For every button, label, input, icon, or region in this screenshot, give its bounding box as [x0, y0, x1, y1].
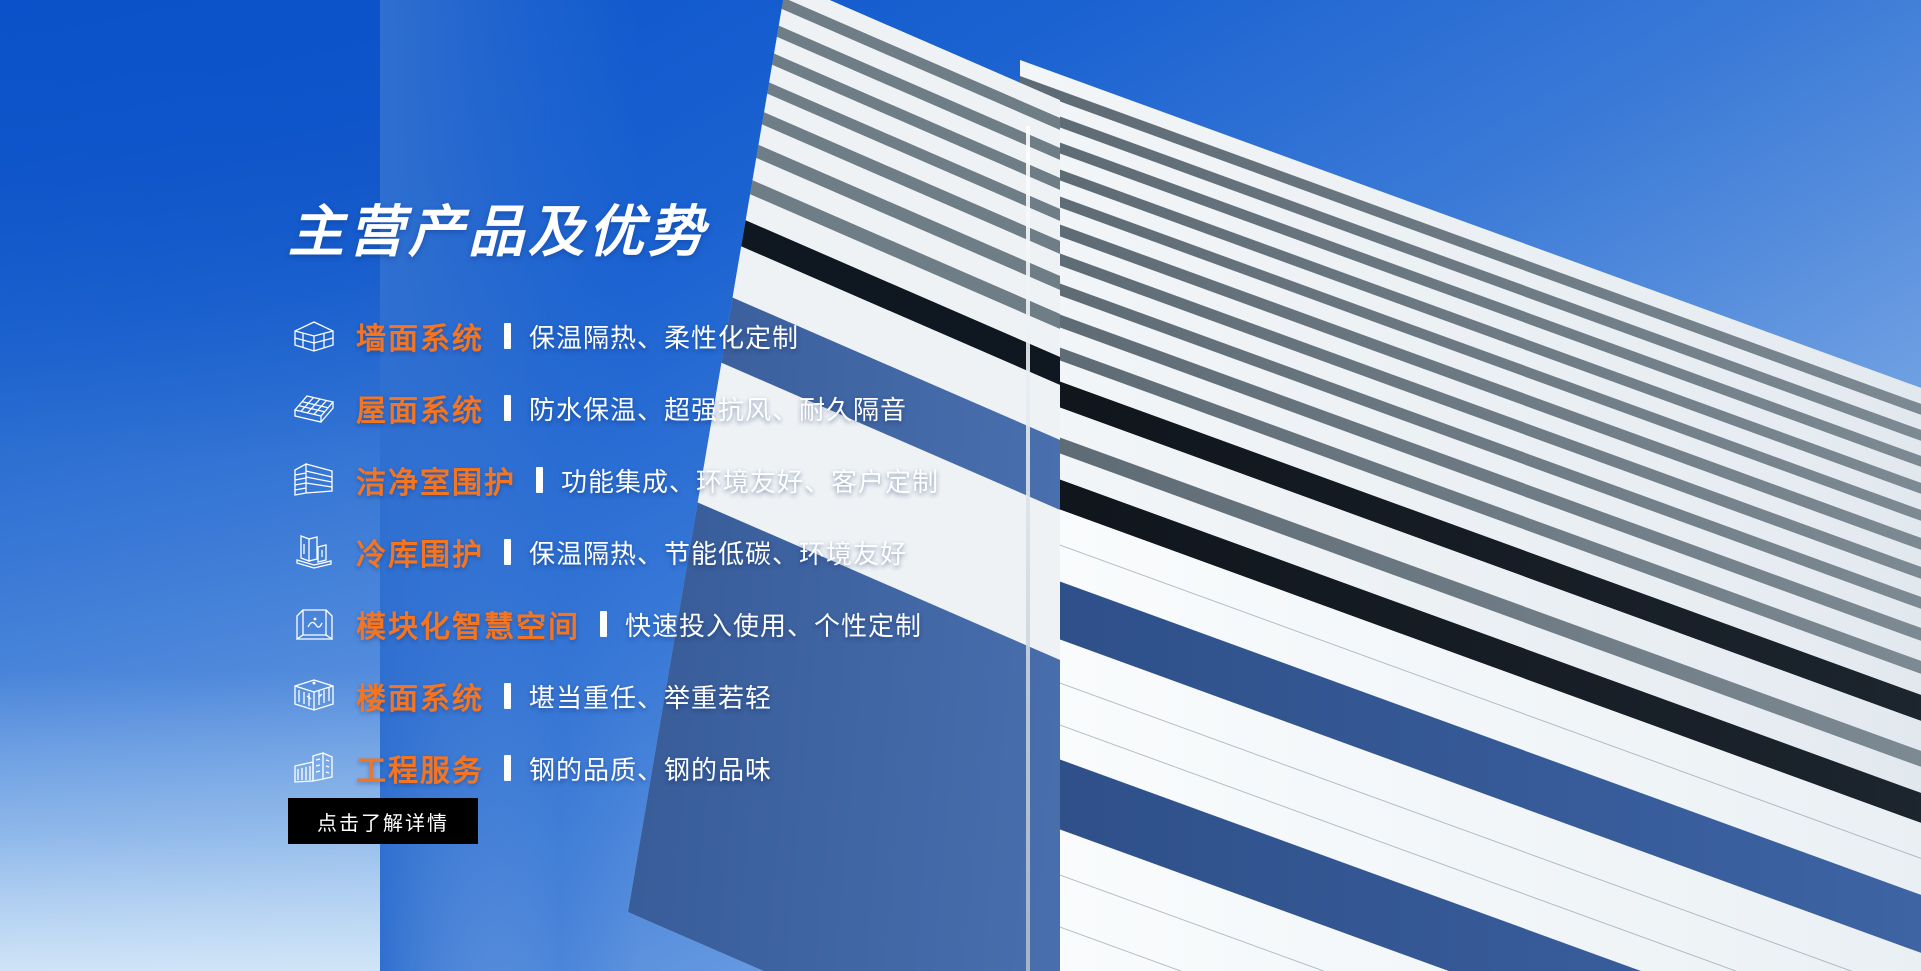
banner-content: 主营产品及优势 墙面系统 保温隔热、柔性化定制	[0, 0, 1100, 971]
feature-title: 冷库围护	[356, 530, 484, 574]
feature-title: 洁净室围护	[356, 458, 516, 502]
feature-list: 墙面系统 保温隔热、柔性化定制 屋面系统 防水保温、超强抗风、	[288, 300, 1108, 804]
roof-system-icon	[288, 386, 340, 430]
feature-desc: 保温隔热、柔性化定制	[529, 318, 799, 355]
floor-system-icon	[288, 674, 340, 718]
feature-separator	[504, 755, 511, 781]
learn-more-button[interactable]: 点击了解详情	[288, 798, 478, 844]
feature-desc: 保温隔热、节能低碳、环境友好	[529, 534, 907, 571]
feature-row-engineering-service[interactable]: 工程服务 钢的品质、钢的品味	[288, 732, 1108, 804]
wall-system-icon	[288, 314, 340, 358]
modular-smart-space-icon	[288, 602, 340, 646]
cold-storage-envelope-icon	[288, 530, 340, 574]
feature-row-cold-storage-envelope[interactable]: 冷库围护 保温隔热、节能低碳、环境友好	[288, 516, 1108, 588]
banner-stage: 主营产品及优势 墙面系统 保温隔热、柔性化定制	[0, 0, 1921, 971]
feature-row-wall-system[interactable]: 墙面系统 保温隔热、柔性化定制	[288, 300, 1108, 372]
feature-desc: 钢的品质、钢的品味	[529, 750, 772, 787]
feature-separator	[504, 539, 511, 565]
feature-title: 楼面系统	[356, 674, 484, 718]
feature-separator	[600, 611, 607, 637]
feature-desc: 快速投入使用、个性定制	[625, 606, 922, 643]
feature-separator	[504, 395, 511, 421]
feature-row-modular-smart-space[interactable]: 模块化智慧空间 快速投入使用、个性定制	[288, 588, 1108, 660]
feature-separator	[536, 467, 543, 493]
feature-row-cleanroom-envelope[interactable]: 洁净室围护 功能集成、环境友好、客户定制	[288, 444, 1108, 516]
feature-title: 墙面系统	[356, 314, 484, 358]
feature-row-floor-system[interactable]: 楼面系统 堪当重任、举重若轻	[288, 660, 1108, 732]
feature-title: 模块化智慧空间	[356, 602, 580, 646]
page-title: 主营产品及优势	[288, 205, 708, 261]
engineering-service-icon	[288, 746, 340, 790]
feature-desc: 防水保温、超强抗风、耐久隔音	[529, 390, 907, 427]
feature-title: 屋面系统	[356, 386, 484, 430]
feature-separator	[504, 683, 511, 709]
feature-row-roof-system[interactable]: 屋面系统 防水保温、超强抗风、耐久隔音	[288, 372, 1108, 444]
feature-separator	[504, 323, 511, 349]
feature-desc: 堪当重任、举重若轻	[529, 678, 772, 715]
feature-title: 工程服务	[356, 746, 484, 790]
cleanroom-envelope-icon	[288, 458, 340, 502]
feature-desc: 功能集成、环境友好、客户定制	[561, 462, 939, 499]
